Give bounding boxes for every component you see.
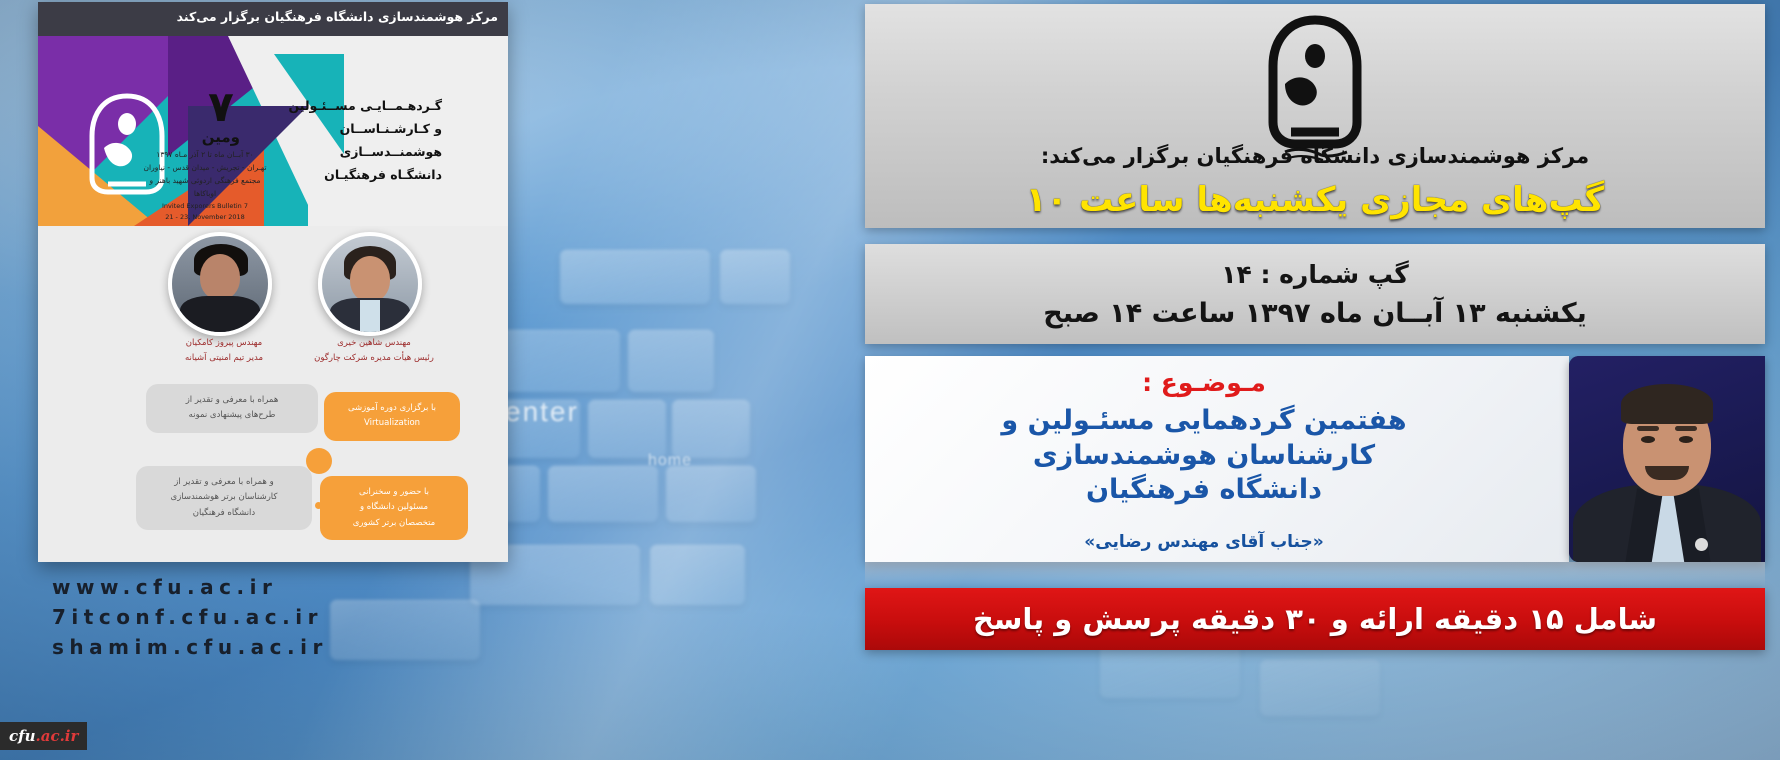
subject-speaker: «جناب آقای مهندس رضایی»	[865, 532, 1543, 552]
poster-info-bubble: و همراه با معرفی و تقدیر ازکارشناسان برت…	[136, 466, 312, 530]
poster-edition-number: ۷	[202, 88, 240, 126]
session-date: یکشنبه ۱۳ آبــان ماه ۱۳۹۷ ساعت ۱۴ صبح	[865, 298, 1765, 329]
subject-card: مـوضـوع : هفتمین گردهمایی مسئـولین و کار…	[865, 356, 1569, 562]
poster-top-banner-text: مرکز هوشمندسازی دانشگاه فرهنگیان برگزار …	[177, 9, 498, 24]
session-panel: گپ شماره : ۱۴ یکشنبه ۱۳ آبــان ماه ۱۳۹۷ …	[865, 244, 1765, 344]
header-panel: مرکز هوشمندسازی دانشگاه فرهنگیان برگزار …	[865, 4, 1765, 228]
subject-row: مـوضـوع : هفتمین گردهمایی مسئـولین و کار…	[865, 356, 1765, 562]
panel-reflection	[865, 562, 1765, 588]
session-number: گپ شماره : ۱۴	[865, 260, 1765, 289]
site-watermark: cfu.ac.ir	[0, 722, 87, 750]
subject-line-3: دانشگاه فرهنگیان	[865, 473, 1543, 508]
url-main: www.cfu.ac.ir	[52, 572, 328, 602]
footer-note: شامل ۱۵ دقیقه ارائه و ۳۰ دقیقه پرسش و پا…	[865, 588, 1765, 650]
poster-hero-title: گـردهـمــایـی مســئـولین و کـارشـنـاســا…	[256, 94, 442, 187]
poster-hero-meta: ۳۰ آبــان ماه تا ۲ آذر مـاه ۱۳۹۷ تهـران …	[140, 148, 270, 223]
url-conf: 7itconf.cfu.ac.ir	[52, 602, 328, 632]
footer-banner: شامل ۱۵ دقیقه ارائه و ۳۰ دقیقه پرسش و پا…	[865, 588, 1765, 650]
header-title: گپ‌های مجازی یکشنبه‌ها ساعت ۱۰	[865, 180, 1765, 220]
subject-text: هفتمین گردهمایی مسئـولین و کارشناسان هوش…	[865, 404, 1543, 508]
poster-body: مهندس شاهین خیری رئیس هیأت مدیره شرکت چا…	[38, 226, 508, 562]
subject-label: مـوضـوع :	[865, 368, 1543, 397]
poster-info-bubble: همراه با معرفی و تقدیر ازطرح‌های پیشنهاد…	[146, 384, 318, 433]
poster-speaker-caption: مهندس پیروز کامکیان مدیر تیم امنیتی آشیا…	[144, 336, 304, 366]
speaker-photo	[1569, 356, 1765, 562]
poster-hero-edition: ۷ ومین	[202, 88, 240, 146]
poster-info-bubble: با برگزاری دوره آموزشیVirtualization	[324, 392, 460, 441]
poster-urls: www.cfu.ac.ir 7itconf.cfu.ac.ir shamim.c…	[52, 572, 328, 662]
conference-poster: مرکز هوشمندسازی دانشگاه فرهنگیان برگزار …	[38, 2, 508, 562]
poster-speaker-avatar	[318, 232, 422, 336]
url-shamim: shamim.cfu.ac.ir	[52, 632, 328, 662]
slide-stage: enter home مرکز هوشمندسازی دانشگاه فرهنگ…	[0, 0, 1780, 760]
header-subtitle: مرکز هوشمندسازی دانشگاه فرهنگیان برگزار …	[865, 144, 1765, 168]
farhangian-university-logo-icon	[1255, 14, 1375, 164]
poster-edition-word: ومین	[202, 128, 240, 146]
watermark-part-b: .ac.ir	[36, 727, 79, 745]
subject-line-1: هفتمین گردهمایی مسئـولین و	[865, 404, 1543, 439]
poster-speaker-caption: مهندس شاهین خیری رئیس هیأت مدیره شرکت چا…	[294, 336, 454, 366]
poster-hero: گـردهـمــایـی مســئـولین و کـارشـنـاســا…	[38, 36, 508, 226]
poster-speaker-avatar	[168, 232, 272, 336]
subject-line-2: کارشناسان هوشمندسازی	[865, 439, 1543, 474]
poster-top-banner: مرکز هوشمندسازی دانشگاه فرهنگیان برگزار …	[38, 2, 508, 36]
poster-info-bubble: با حضور و سخنرانیمسئولین دانشگاه ومتخصصا…	[320, 476, 468, 540]
watermark-part-a: cfu	[9, 727, 36, 745]
